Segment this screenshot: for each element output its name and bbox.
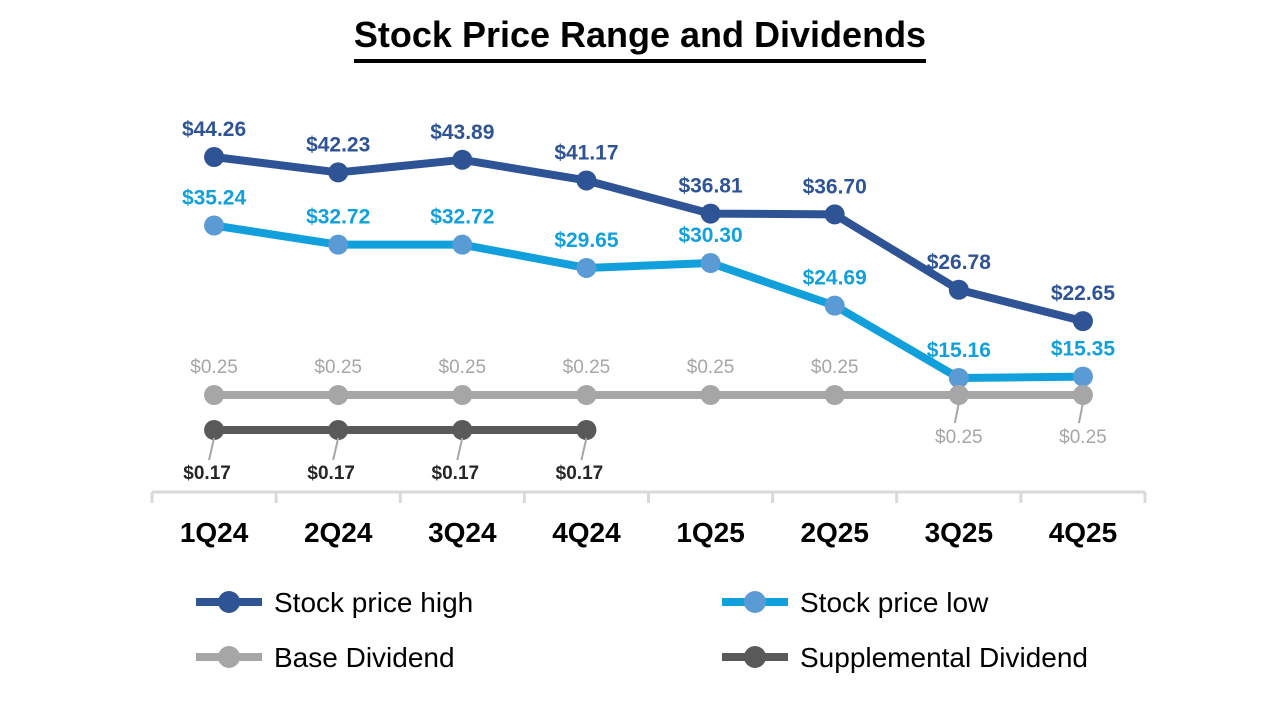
label-leader-line (1079, 403, 1083, 423)
data-point-marker[interactable] (204, 216, 224, 236)
data-point-marker[interactable] (1073, 385, 1093, 405)
data-point-marker[interactable] (452, 150, 472, 170)
category-label: 4Q25 (1049, 517, 1118, 548)
data-point-marker[interactable] (328, 420, 348, 440)
data-label-high: $26.78 (927, 251, 992, 274)
legend-swatch-marker (218, 591, 240, 613)
data-point-marker[interactable] (701, 204, 721, 224)
category-label: 1Q24 (180, 517, 249, 548)
chart-legend: Stock price highStock price lowBase Divi… (196, 587, 1088, 673)
data-label-base-dividend: $0.25 (190, 357, 238, 378)
data-point-marker[interactable] (825, 296, 845, 316)
legend-item-label: Supplemental Dividend (800, 642, 1088, 673)
data-point-marker[interactable] (328, 162, 348, 182)
category-label: 4Q24 (552, 517, 621, 548)
data-label-base-dividend: $0.25 (1059, 427, 1107, 448)
data-label-base-dividend: $0.25 (314, 357, 362, 378)
data-point-marker[interactable] (204, 385, 224, 405)
data-label-high: $44.26 (182, 118, 246, 141)
data-point-marker[interactable] (576, 385, 596, 405)
data-label-low: $32.72 (430, 206, 494, 229)
category-label: 1Q25 (676, 517, 745, 548)
data-label-supplemental-dividend: $0.17 (556, 463, 604, 484)
data-point-marker[interactable] (452, 420, 472, 440)
legend-swatch-marker (744, 591, 766, 613)
data-point-marker[interactable] (204, 420, 224, 440)
category-label: 3Q24 (428, 517, 497, 548)
data-label-high: $43.89 (430, 121, 494, 144)
legend-swatch-marker (744, 646, 766, 668)
data-label-base-dividend: $0.25 (563, 357, 611, 378)
data-label-supplemental-dividend: $0.17 (183, 463, 231, 484)
data-point-marker[interactable] (204, 147, 224, 167)
label-leader-line (333, 438, 338, 460)
data-label-base-dividend: $0.25 (935, 427, 983, 448)
data-label-low: $15.35 (1051, 338, 1116, 361)
data-point-marker[interactable] (452, 385, 472, 405)
data-label-high: $41.17 (554, 141, 618, 164)
legend-swatch-marker (218, 646, 240, 668)
data-point-marker[interactable] (452, 235, 472, 255)
legend-item-label: Base Dividend (274, 642, 455, 673)
label-leader-line (457, 438, 462, 460)
data-point-marker[interactable] (328, 385, 348, 405)
legend-item-label: Stock price low (800, 587, 989, 618)
category-label: 2Q25 (800, 517, 869, 548)
data-label-supplemental-dividend: $0.17 (432, 463, 480, 484)
data-point-marker[interactable] (701, 253, 721, 273)
data-label-low: $32.72 (306, 206, 370, 229)
data-point-marker[interactable] (949, 280, 969, 300)
data-label-high: $36.81 (678, 175, 743, 198)
chart-plot-area: $44.26$42.23$43.89$41.17$36.81$36.70$26.… (0, 0, 1280, 720)
series-layer (204, 147, 1093, 440)
data-label-low: $15.16 (927, 339, 991, 362)
legend-item-label: Stock price high (274, 587, 473, 618)
label-leader-line (955, 403, 959, 423)
data-label-low: $30.30 (678, 224, 742, 247)
data-label-high: $42.23 (306, 133, 370, 156)
data-label-base-dividend: $0.25 (687, 357, 735, 378)
data-label-base-dividend: $0.25 (439, 357, 487, 378)
data-label-high: $22.65 (1051, 282, 1116, 305)
data-point-marker[interactable] (1073, 367, 1093, 387)
category-label: 2Q24 (304, 517, 373, 548)
data-point-marker[interactable] (825, 204, 845, 224)
category-label: 3Q25 (925, 517, 994, 548)
chart-container: Stock Price Range and Dividends $44.26$4… (0, 0, 1280, 720)
data-point-marker[interactable] (949, 385, 969, 405)
data-point-marker[interactable] (576, 170, 596, 190)
label-leader-line (581, 438, 586, 460)
data-point-marker[interactable] (576, 258, 596, 278)
data-label-low: $29.65 (554, 229, 619, 252)
legend-item[interactable]: Stock price low (722, 587, 989, 618)
legend-item[interactable]: Supplemental Dividend (722, 642, 1088, 673)
data-point-marker[interactable] (825, 385, 845, 405)
data-label-high: $36.70 (803, 175, 867, 198)
data-label-base-dividend: $0.25 (811, 357, 859, 378)
category-labels: 1Q242Q243Q244Q241Q252Q253Q254Q25 (180, 517, 1117, 548)
data-label-low: $35.24 (182, 187, 247, 210)
legend-item[interactable]: Base Dividend (196, 642, 455, 673)
data-point-marker[interactable] (1073, 311, 1093, 331)
data-label-low: $24.69 (803, 267, 867, 290)
data-point-marker[interactable] (576, 420, 596, 440)
label-leader-line (209, 438, 214, 460)
legend-item[interactable]: Stock price high (196, 587, 473, 618)
data-label-supplemental-dividend: $0.17 (307, 463, 355, 484)
data-point-marker[interactable] (701, 385, 721, 405)
data-point-marker[interactable] (328, 235, 348, 255)
x-axis (152, 492, 1145, 503)
